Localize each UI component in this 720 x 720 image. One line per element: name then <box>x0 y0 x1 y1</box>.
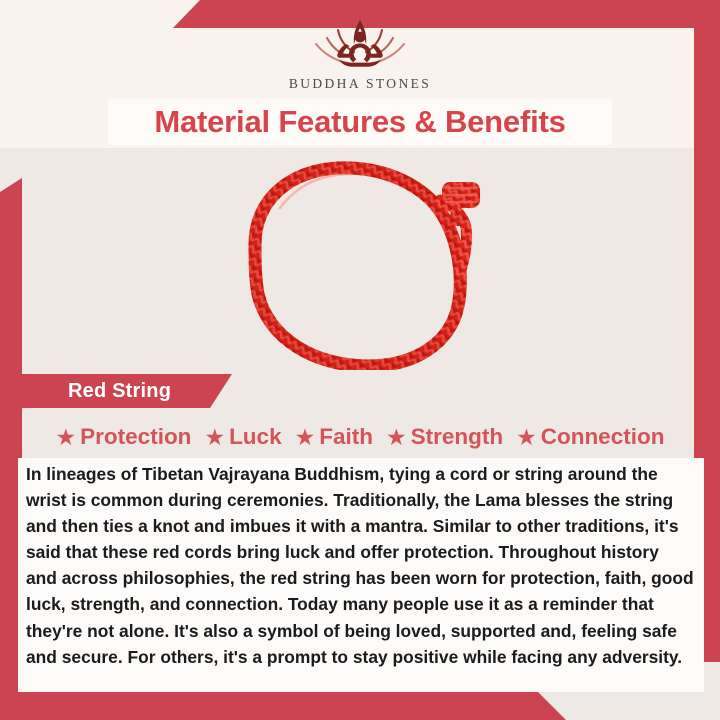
feature-item-luck: ★ Luck <box>204 424 281 450</box>
feature-label: Luck <box>229 424 282 450</box>
feature-label: Strength <box>411 424 504 450</box>
star-icon: ★ <box>295 426 316 449</box>
feature-label: Connection <box>541 424 665 450</box>
page-title: Material Features & Benefits <box>154 104 565 140</box>
description-panel: In lineages of Tibetan Vajrayana Buddhis… <box>18 458 704 692</box>
feature-item-strength: ★ Strength <box>386 424 503 450</box>
feature-list: ★ Protection ★ Luck ★ Faith ★ Strength ★… <box>22 418 698 456</box>
infographic-page: BUDDHA STONES Material Features & Benefi… <box>0 0 720 720</box>
star-icon: ★ <box>56 426 77 449</box>
title-banner: Material Features & Benefits <box>108 99 612 145</box>
feature-label: Protection <box>80 424 191 450</box>
star-icon: ★ <box>386 426 407 449</box>
feature-item-protection: ★ Protection <box>56 424 192 450</box>
product-tag-label: Red String <box>68 380 171 403</box>
brand-name: BUDDHA STONES <box>0 76 720 92</box>
feature-label: Faith <box>319 424 373 450</box>
description-text: In lineages of Tibetan Vajrayana Buddhis… <box>26 461 694 670</box>
star-icon: ★ <box>516 426 537 449</box>
brand-logo: BUDDHA STONES <box>0 14 720 92</box>
lotus-meditation-icon <box>0 14 720 74</box>
product-tag: Red String <box>22 374 232 408</box>
star-icon: ★ <box>204 426 225 449</box>
product-image <box>22 148 694 370</box>
feature-item-connection: ★ Connection <box>516 424 664 450</box>
feature-item-faith: ★ Faith <box>295 424 373 450</box>
